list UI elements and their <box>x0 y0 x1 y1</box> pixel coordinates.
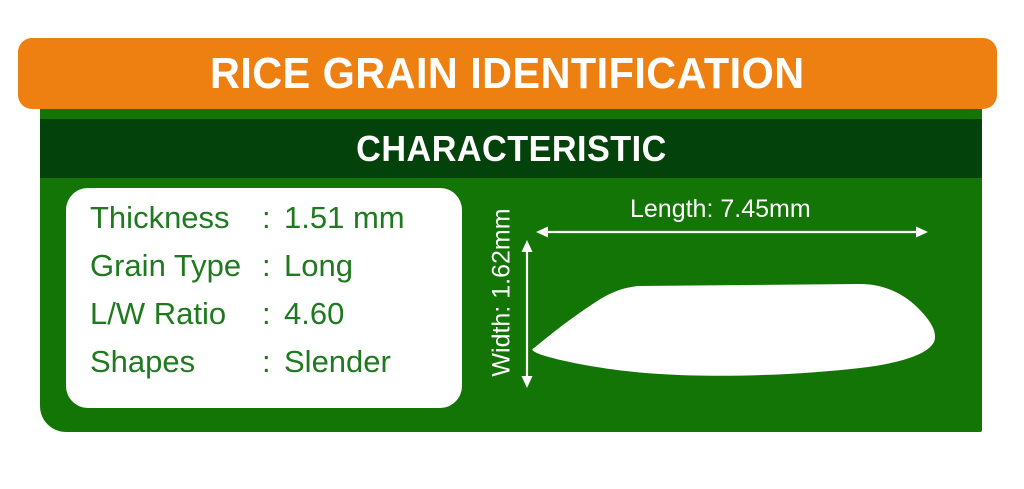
grain-measurement-diagram: Length: 7.45mm Width: 1.62mm <box>470 185 970 415</box>
length-measurement-label: Length: 7.45mm <box>630 197 811 222</box>
characteristic-label: L/W Ratio <box>90 298 262 329</box>
width-measurement-label: Width: 1.62mm <box>490 193 515 393</box>
characteristic-row-thickness: Thickness : 1.51 mm <box>66 202 462 250</box>
characteristic-row-lw-ratio: L/W Ratio : 4.60 <box>66 298 462 346</box>
characteristic-separator: : <box>262 250 284 281</box>
characteristic-separator: : <box>262 202 284 233</box>
section-subtitle: CHARACTERISTIC <box>356 131 667 167</box>
characteristics-card: Thickness : 1.51 mm Grain Type : Long L/… <box>66 188 462 408</box>
characteristic-label: Thickness <box>90 202 262 233</box>
characteristic-value: 1.51 mm <box>284 202 405 233</box>
characteristic-value: Slender <box>284 346 391 377</box>
characteristic-separator: : <box>262 346 284 377</box>
characteristic-value: 4.60 <box>284 298 344 329</box>
rice-grain-identification-infographic: RICE GRAIN IDENTIFICATION CHARACTERISTIC… <box>0 0 1024 489</box>
characteristic-value: Long <box>284 250 353 281</box>
characteristic-row-shapes: Shapes : Slender <box>66 346 462 394</box>
characteristic-label: Grain Type <box>90 250 262 281</box>
title-bar: RICE GRAIN IDENTIFICATION <box>18 38 997 109</box>
double-headed-horizontal-arrow-icon <box>536 223 928 241</box>
characteristic-row-grain-type: Grain Type : Long <box>66 250 462 298</box>
subtitle-band: CHARACTERISTIC <box>40 119 982 178</box>
characteristic-separator: : <box>262 298 284 329</box>
page-title: RICE GRAIN IDENTIFICATION <box>210 52 805 96</box>
rice-grain-silhouette-icon <box>530 260 942 380</box>
characteristic-label: Shapes <box>90 346 262 377</box>
